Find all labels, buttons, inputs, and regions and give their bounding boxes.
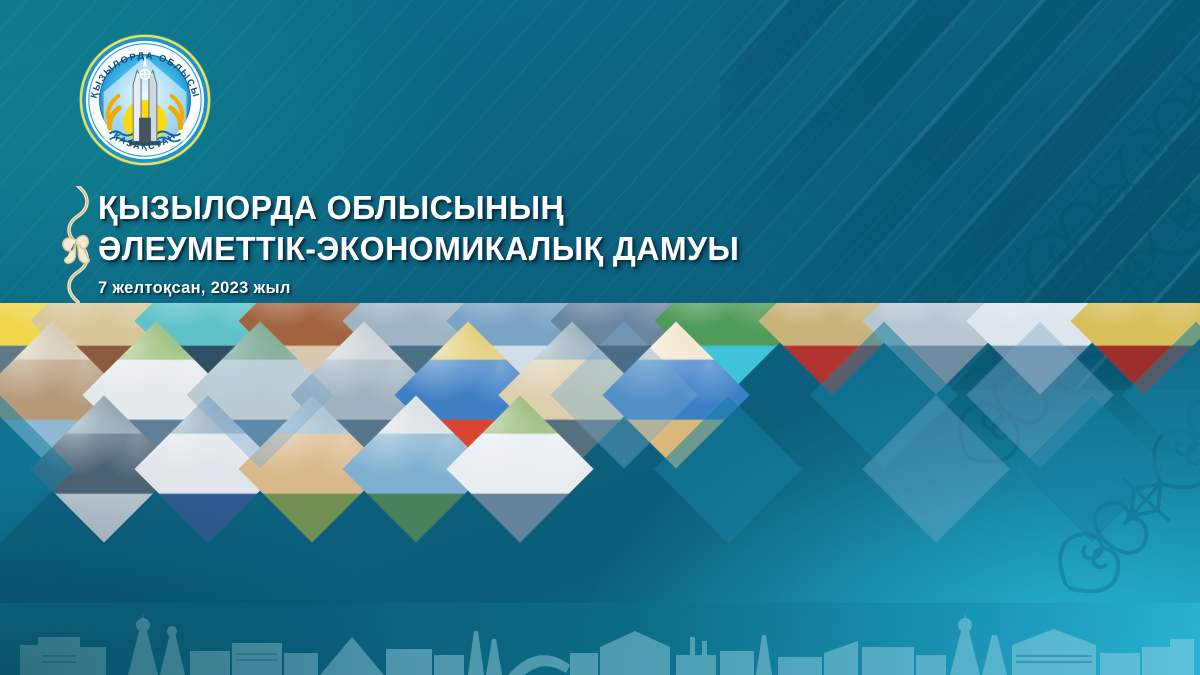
gold-vertical-ornament (56, 186, 100, 308)
kazakh-ornament-band-1 (989, 0, 1200, 328)
city-skyline-silhouette (0, 603, 1200, 675)
page-title-line-1: ҚЫЗЫЛОРДА ОБЛЫСЫНЫҢ (98, 188, 924, 229)
bottom-skyline-band (0, 603, 1200, 675)
kyzylorda-region-emblem: ҚЫЗЫЛОРДА ОБЛЫСЫ ҚАЗАҚСТАН (76, 30, 214, 170)
photo-mosaic-band (0, 303, 1200, 621)
slide-date: 7 желтоқсан, 2023 жыл (98, 279, 958, 298)
title-block: ҚЫЗЫЛОРДА ОБЛЫСЫНЫҢ ӘЛЕУМЕТТІК-ЭКОНОМИКА… (98, 188, 958, 298)
presentation-slide: ҚЫЗЫЛОРДА ОБЛЫСЫ ҚАЗАҚСТАН ҚЫЗЫЛОРДА ОБЛ… (0, 0, 1200, 675)
page-title-line-2: ӘЛЕУМЕТТІК-ЭКОНОМИКАЛЫҚ ДАМУЫ (98, 229, 924, 270)
